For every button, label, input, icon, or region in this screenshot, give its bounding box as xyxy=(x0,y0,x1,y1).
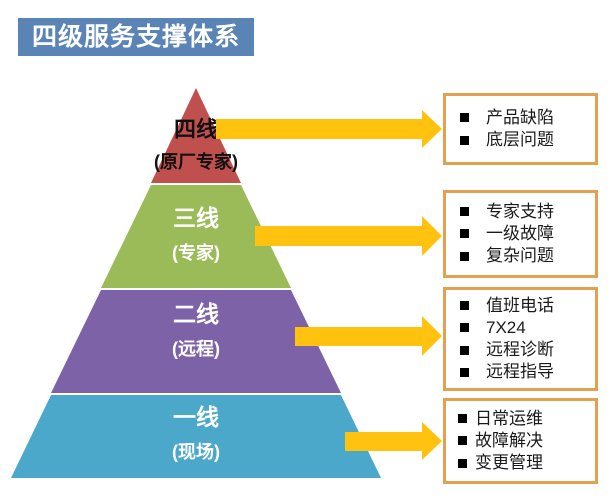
list-item: 远程诊断 xyxy=(460,340,595,360)
square-bullet-icon xyxy=(460,136,469,145)
pyramid-tier-2-shape[interactable] xyxy=(51,290,341,393)
callout-box-tier-1[interactable]: 日常运维 故障解决 变更管理 xyxy=(443,398,598,484)
square-bullet-icon xyxy=(460,346,469,355)
list-item: 变更管理 xyxy=(458,453,595,473)
pyramid-tier-3-shape[interactable] xyxy=(101,185,291,288)
pyramid-tier-1-shape[interactable] xyxy=(11,395,381,478)
list-item: 远程指导 xyxy=(460,362,595,382)
square-bullet-icon xyxy=(460,301,469,310)
square-bullet-icon xyxy=(458,414,467,423)
list-item: 产品缺陷 xyxy=(460,108,595,128)
square-bullet-icon xyxy=(458,436,467,445)
list-item: 故障解决 xyxy=(458,431,595,451)
square-bullet-icon xyxy=(460,252,469,261)
list-item: 日常运维 xyxy=(458,409,595,429)
square-bullet-icon xyxy=(460,368,469,377)
square-bullet-icon xyxy=(460,113,469,122)
callout-box-tier-3[interactable]: 专家支持 一级故障 复杂问题 xyxy=(443,190,598,278)
square-bullet-icon xyxy=(460,229,469,238)
square-bullet-icon xyxy=(460,323,469,332)
callout-box-tier-4[interactable]: 产品缺陷 底层问题 xyxy=(443,93,598,165)
callout-box-tier-2[interactable]: 值班电话 7X24 远程诊断 远程指导 xyxy=(443,287,598,391)
list-item: 值班电话 xyxy=(460,296,595,316)
square-bullet-icon xyxy=(458,459,467,468)
list-item: 7X24 xyxy=(460,318,595,338)
pyramid-tier-4-shape[interactable] xyxy=(151,88,241,183)
diagram-canvas: 四级服务支撑体系 四线 (原厂专家) 三线 (专家) 二线 (远程) 一线 (现… xyxy=(0,0,612,500)
square-bullet-icon xyxy=(460,207,469,216)
list-item: 复杂问题 xyxy=(460,246,595,266)
list-item: 专家支持 xyxy=(460,202,595,222)
list-item: 底层问题 xyxy=(460,130,595,150)
list-item: 一级故障 xyxy=(460,224,595,244)
